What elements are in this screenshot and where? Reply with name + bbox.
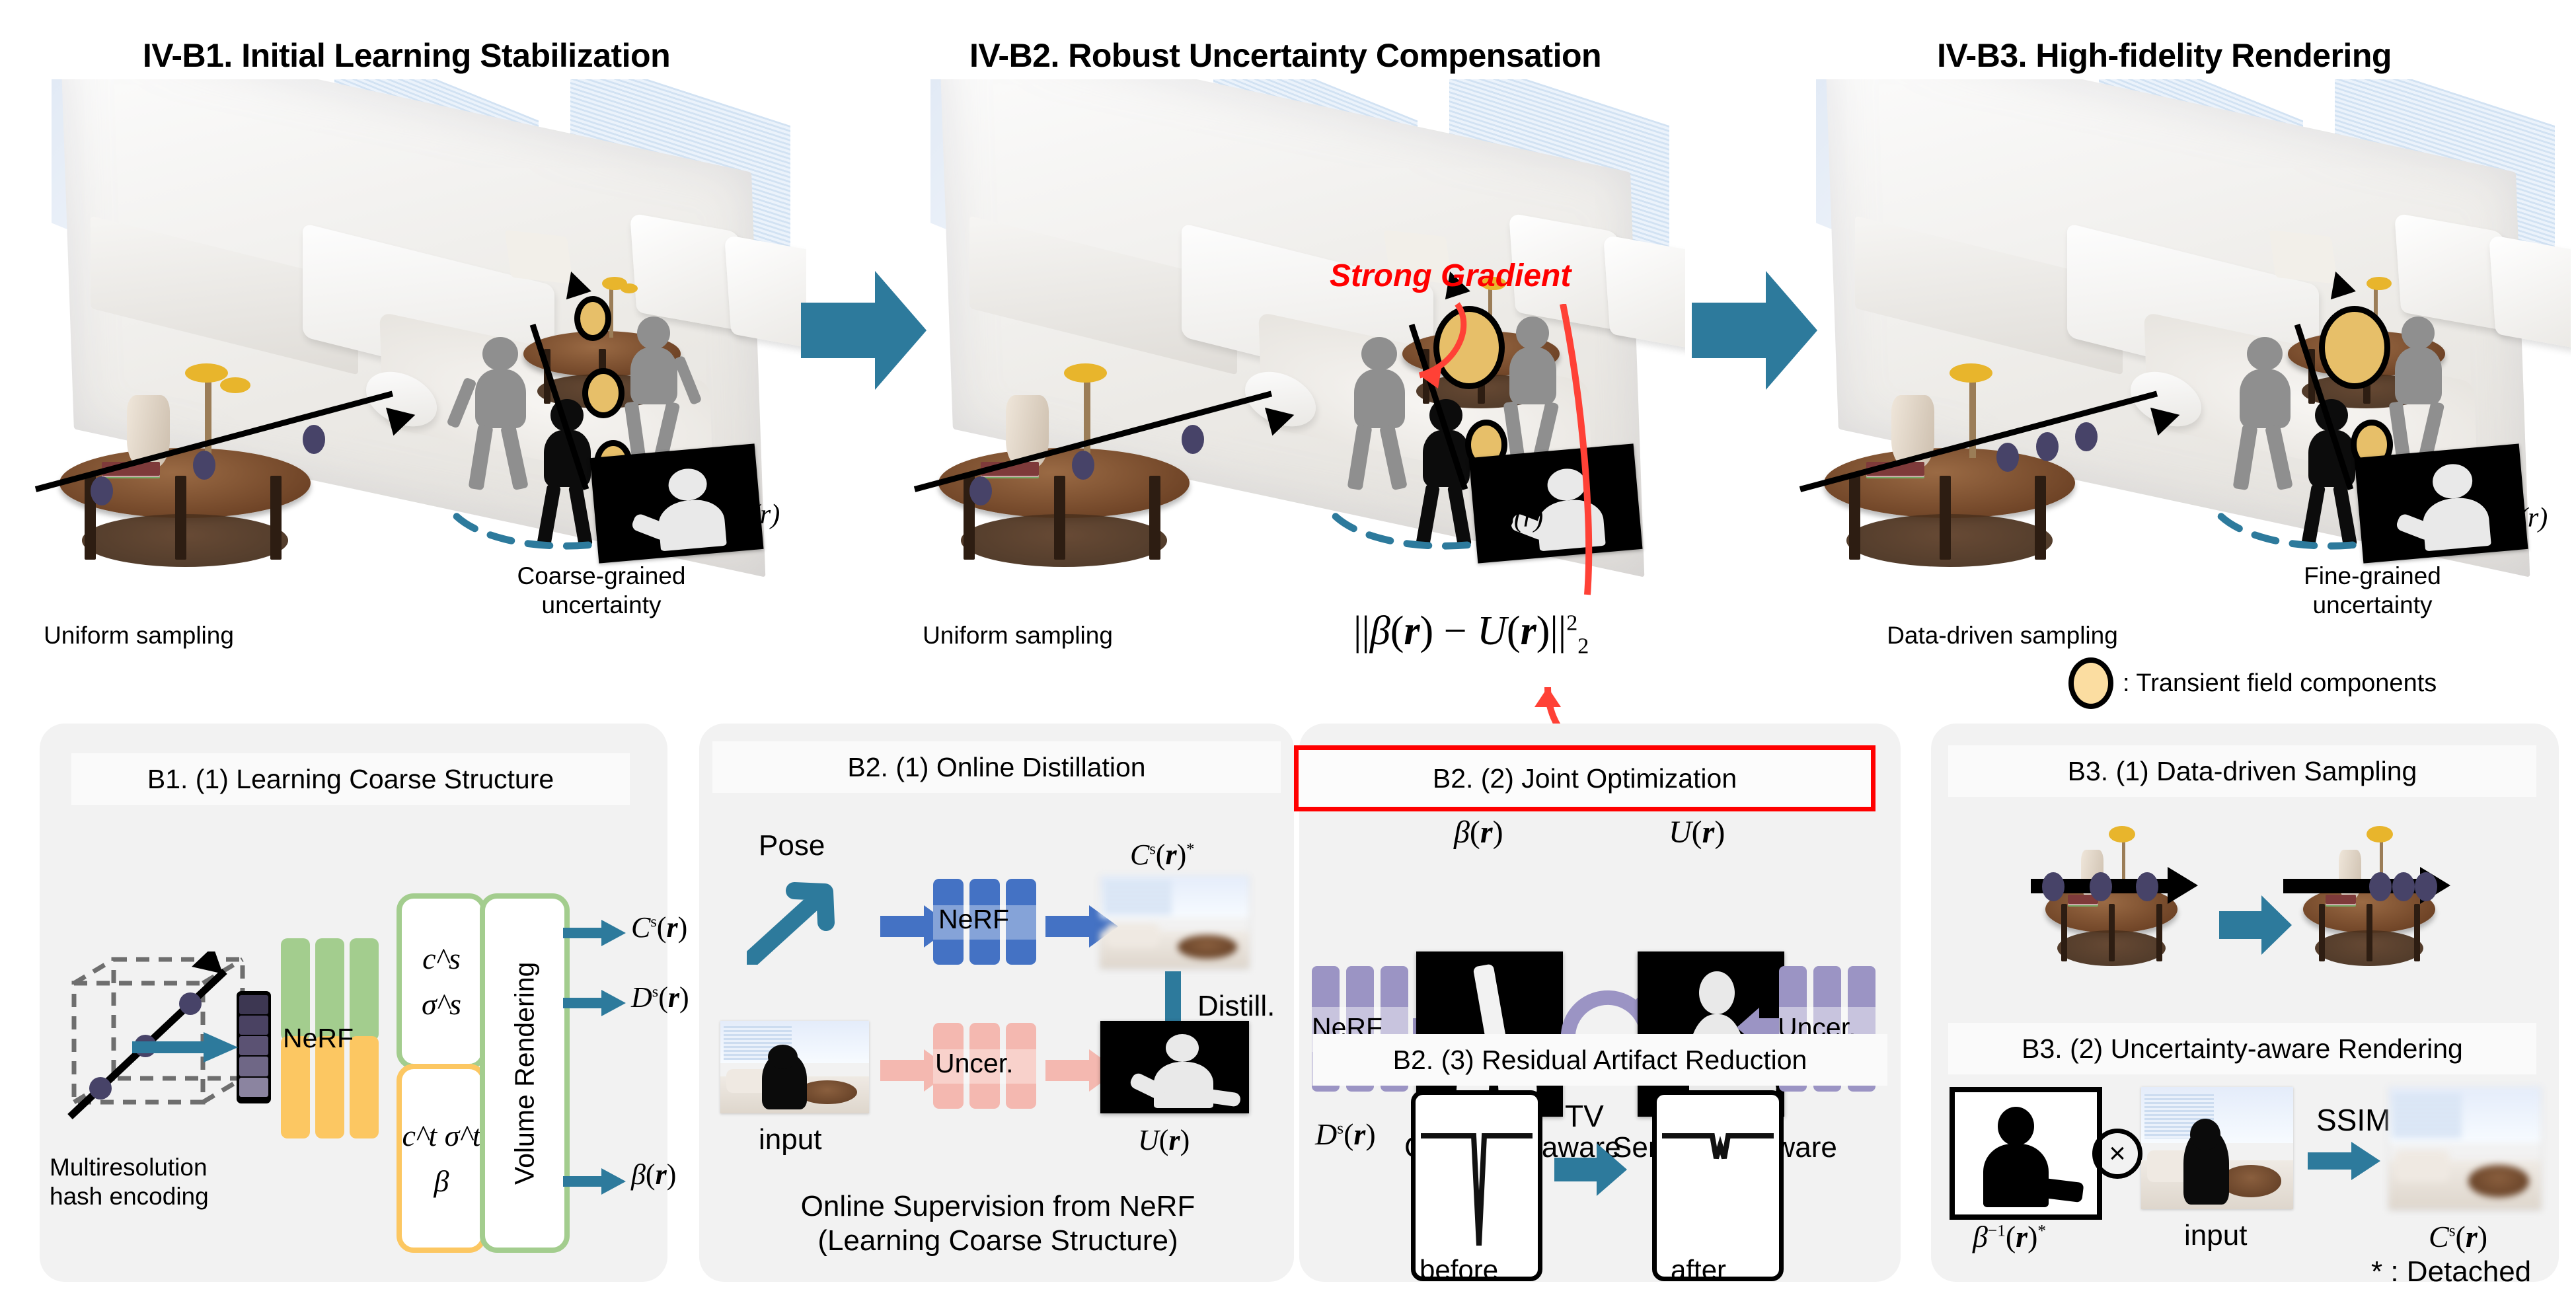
table-leg <box>1054 476 1065 560</box>
table-leg <box>1149 476 1160 560</box>
static-head-box: c^s σ^s <box>397 893 486 1069</box>
nerf-label-b1: NeRF <box>283 1023 354 1054</box>
output-arrow-ds <box>563 990 626 1016</box>
flower <box>2367 277 2392 291</box>
volume-rendering-label: Volume Rendering <box>485 899 564 1248</box>
person-head <box>482 337 518 371</box>
static-head-symbols: c^s σ^s <box>402 899 481 1064</box>
photo-blinds <box>1104 881 1172 914</box>
mask-body <box>657 497 727 551</box>
photo-table <box>2220 1165 2281 1197</box>
output-label-beta: β(r) <box>631 1158 676 1191</box>
distill-label: Distill. <box>1197 990 1275 1023</box>
transient-head-symbols: c^t σ^t β <box>402 1069 481 1248</box>
sample-point <box>2036 432 2059 461</box>
before-label: before <box>1420 1254 1498 1286</box>
table-leg <box>2414 904 2420 961</box>
output-label-ds: Ds(r) <box>631 981 689 1014</box>
foreground-table <box>1824 409 2076 584</box>
table-leg <box>2035 476 2046 560</box>
output-arrow-cs <box>563 920 626 946</box>
beta-inv-body <box>1983 1144 2049 1207</box>
flower <box>1950 363 1992 383</box>
depth-label-b2-3: Ds(r) <box>1315 1117 1376 1152</box>
nerf-label-b2: NeRF <box>938 904 1009 935</box>
column-title-b3: IV-B3. High-fidelity Rendering <box>1758 36 2571 75</box>
panel-b2-1-footer: Online Supervision from NeRF (Learning C… <box>707 1189 1289 1258</box>
mask-head <box>1699 971 1734 1014</box>
beta-label-joint: β(r) <box>1454 814 1503 850</box>
pose-label: Pose <box>759 829 825 862</box>
photo-couch <box>1106 924 1160 948</box>
panel-b2-1-title: B2. (1) Online Distillation <box>712 741 1281 793</box>
output-label-cs: Cs(r) <box>631 911 687 944</box>
panel-b3-1-title: B3. (1) Data-driven Sampling <box>1948 745 2536 797</box>
mask-label-b1: β(r) <box>737 499 780 531</box>
room-armchair <box>724 235 806 352</box>
table-leg <box>2156 904 2162 961</box>
table-leg <box>1849 476 1860 560</box>
ssim-label: SSIM <box>2316 1102 2390 1138</box>
detached-footnote: * : Detached <box>2371 1255 2531 1288</box>
b3-table-before <box>2045 859 2178 978</box>
sample-point <box>1072 451 1094 480</box>
scene-b1 <box>20 79 806 595</box>
panel-b1-title: B1. (1) Learning Coarse Structure <box>71 753 630 805</box>
table-leg <box>1940 476 1951 560</box>
sample-point <box>303 425 325 454</box>
input-label-b3: input <box>2184 1219 2247 1252</box>
input-label-b2: input <box>759 1123 821 1156</box>
table-leg <box>2109 904 2115 961</box>
photo-table <box>2468 1165 2529 1197</box>
mask-head <box>2431 463 2474 500</box>
sample-point <box>1182 425 1204 454</box>
rendered-image <box>1100 876 1249 968</box>
column-title-b2: IV-B2. Robust Uncertainty Compensation <box>846 36 1725 75</box>
beta-inverse-box <box>1950 1087 2102 1220</box>
sample-point <box>91 476 113 505</box>
elementwise-multiply-icon: × <box>2092 1129 2142 1179</box>
ssim-arrow <box>2308 1142 2380 1180</box>
sample-point <box>2090 872 2112 901</box>
column-title-b1: IV-B1. Initial Learning Stabilization <box>0 36 813 75</box>
sample-point <box>1996 443 2019 472</box>
sampling-caption-b3: Data-driven sampling <box>1850 621 2154 650</box>
table-leg <box>2367 904 2372 961</box>
mask-label-b3: β(r) <box>2505 502 2548 534</box>
photo-blinds <box>2392 1094 2462 1138</box>
sample-point <box>2136 872 2158 901</box>
legend-text: : Transient field components <box>2123 669 2437 698</box>
scene-b3 <box>1784 79 2571 595</box>
flower <box>1064 363 1107 383</box>
sample-point <box>969 476 992 505</box>
output-arrow-beta <box>563 1168 626 1195</box>
uncertainty-output-mask <box>1100 1021 1249 1113</box>
depth-before-box <box>1411 1090 1542 1281</box>
sample-point <box>2075 422 2098 451</box>
depth-after-box <box>1652 1090 1784 1281</box>
sample-point <box>2042 872 2065 901</box>
sample-point <box>2415 872 2437 901</box>
u-label-joint: U(r) <box>1669 814 1725 850</box>
render-output-label: Cs(r)* <box>1130 838 1194 872</box>
mask-body <box>2421 495 2491 551</box>
room-armchair <box>2489 235 2571 352</box>
photo-couch <box>2395 1150 2450 1182</box>
pose-arrow-icon <box>747 872 852 965</box>
input-image-b2 <box>720 1021 869 1113</box>
ray-arrowhead <box>2168 867 2198 904</box>
person-head <box>2402 317 2435 350</box>
photo-person-head <box>768 1045 798 1068</box>
uncertainty-caption-b1: Coarse-grained uncertainty <box>463 562 740 619</box>
flower <box>185 363 228 383</box>
mask-head <box>667 466 707 502</box>
sampling-caption-b2: Uniform sampling <box>879 621 1156 650</box>
rendered-output-b3 <box>2389 1087 2541 1209</box>
person-head <box>2247 337 2283 371</box>
sample-point <box>2369 872 2392 901</box>
photo-person-head <box>2190 1119 2220 1150</box>
table-leg <box>2061 904 2067 961</box>
strong-gradient-label: Strong Gradient <box>1330 258 1571 294</box>
b3-table-after <box>2303 859 2435 978</box>
hash-encoding-caption: Multiresolution hash encoding <box>50 1153 327 1211</box>
mask-head <box>1166 1034 1199 1062</box>
photo-table <box>1178 935 1237 959</box>
uncertainty-caption-b3: Fine-grained uncertainty <box>2234 562 2511 619</box>
tv-label: TV <box>1565 1098 1604 1134</box>
uncertainty-mask-b3 <box>2354 443 2528 563</box>
person-head <box>637 317 670 350</box>
uncer-label-b2: Uncer. <box>935 1048 1014 1079</box>
panel-b2-2-title: B2. (2) Joint Optimization <box>1294 745 1875 811</box>
flower <box>2109 826 2135 842</box>
beta-inv-head <box>1998 1107 2035 1146</box>
transient-field-dot-icon <box>2068 657 2113 709</box>
input-image-b3 <box>2141 1087 2293 1209</box>
sampling-caption-b1: Uniform sampling <box>0 621 278 650</box>
after-label: after <box>1671 1254 1726 1286</box>
uncertainty-output-label: U(r) <box>1138 1123 1190 1157</box>
table-leg <box>270 476 282 560</box>
legend-transient-components: : Transient field components <box>2068 657 2437 709</box>
table-leg <box>175 476 186 560</box>
feature-vector-icon <box>237 991 271 1103</box>
table-book <box>2326 895 2356 904</box>
flower <box>2367 826 2393 842</box>
beta-inverse-label: β−1(r)* <box>1973 1219 2046 1254</box>
person-torso <box>630 348 677 404</box>
transient-head-box: c^t σ^t β <box>397 1064 486 1253</box>
loss-equation: ||β(r) − U(r)||22 <box>1353 608 1589 659</box>
grid-to-feature-arrow <box>132 1032 238 1063</box>
person-torso <box>2395 348 2442 404</box>
output-label-b3: Cs(r) <box>2429 1219 2487 1254</box>
sample-point <box>193 451 215 480</box>
tv-arrow <box>1554 1143 1627 1196</box>
panel-b3-2-title: B3. (2) Uncertainty-aware Rendering <box>1948 1023 2536 1074</box>
panel-b2-3-title-visible: B2. (3) Residual Artifact Reduction <box>1312 1034 1887 1086</box>
sample-point <box>2392 872 2415 901</box>
transient-sample-point <box>574 296 611 341</box>
times-symbol: × <box>2109 1142 2126 1165</box>
b3-sampling-arrow <box>2219 895 2292 955</box>
table-leg <box>2319 904 2325 961</box>
photo-table <box>798 1080 857 1104</box>
volume-rendering-box: Volume Rendering <box>480 893 570 1253</box>
transient-sample-point-large <box>2319 306 2390 389</box>
